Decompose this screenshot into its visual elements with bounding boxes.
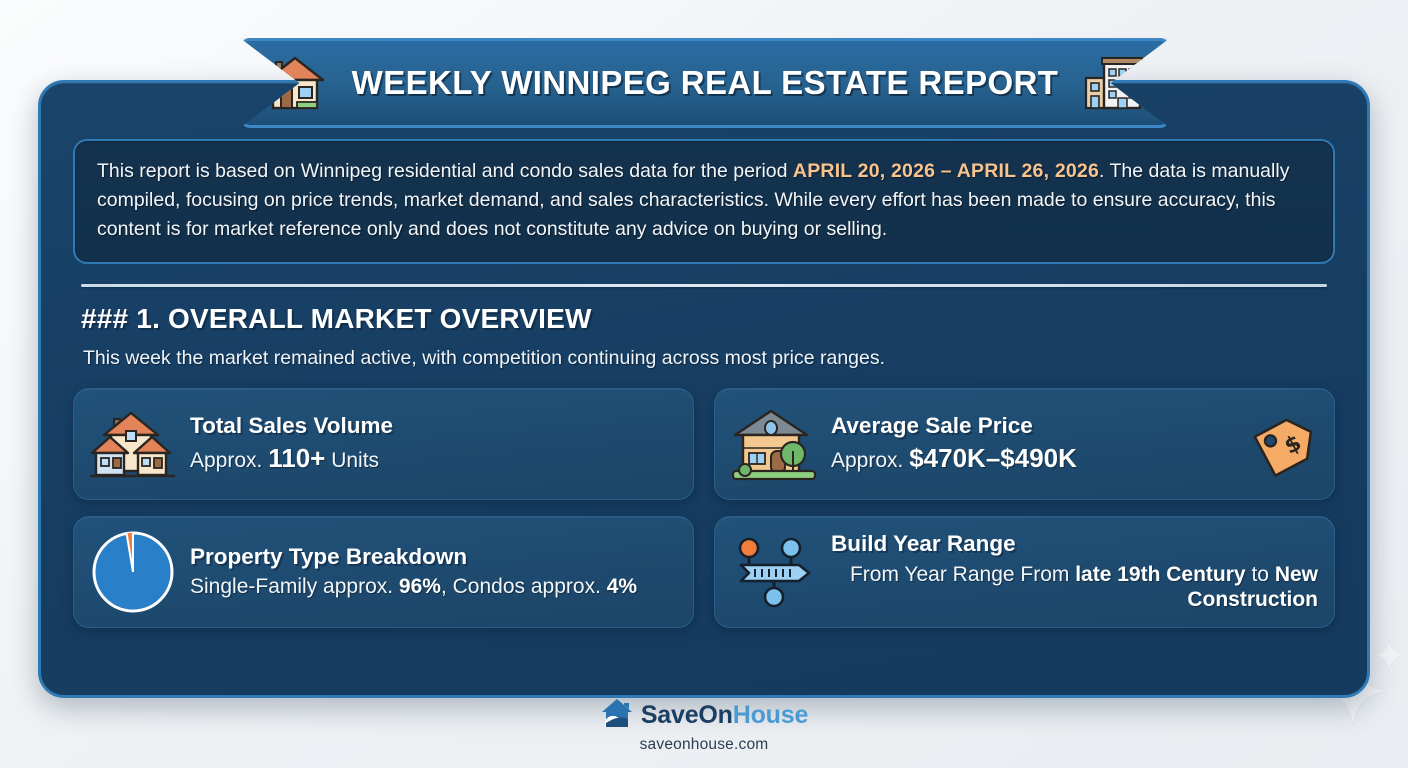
- office-building-icon: [1084, 52, 1146, 114]
- stat-card-grid: Total Sales Volume Approx. 110+ Units: [73, 388, 1335, 628]
- stat-value-prefix: Approx.: [831, 449, 909, 472]
- stat-card-property-type-breakdown: Property Type Breakdown Single-Family ap…: [73, 516, 694, 628]
- house-swoosh-logo-icon: [600, 697, 634, 734]
- stat-value-line2-a: approx.: [531, 575, 607, 598]
- stat-title: Total Sales Volume: [190, 413, 677, 440]
- stat-card-build-year-range: Build Year Range From Year Range From la…: [714, 516, 1335, 628]
- page-title: WEEKLY WINNIPEG REAL ESTATE REPORT: [352, 64, 1059, 102]
- stat-value: Approx. $470K–$490K: [831, 443, 1318, 475]
- disclaimer-box: This report is based on Winnipeg residen…: [73, 139, 1335, 264]
- stat-value: From Year Range From late 19th Century t…: [831, 562, 1318, 613]
- disclaimer-text: This report is based on Winnipeg residen…: [97, 157, 1311, 244]
- section-subtitle: This week the market remained active, wi…: [73, 347, 1335, 370]
- report-date-range: APRIL 20, 2026 – APRIL 26, 2026: [793, 160, 1099, 182]
- stat-card-total-sales-volume: Total Sales Volume Approx. 110+ Units: [73, 388, 694, 500]
- price-tag-icon: $: [1248, 404, 1328, 484]
- brand-part-house: House: [733, 701, 808, 729]
- stat-title: Average Sale Price: [831, 413, 1318, 440]
- section-divider: [81, 284, 1327, 287]
- brand-url[interactable]: saveonhouse.com: [640, 736, 769, 754]
- stat-value-line1-c: , Condos: [441, 575, 525, 598]
- stat-value-line2-a: to: [1251, 563, 1274, 586]
- brand-logo[interactable]: SaveOnHouse: [600, 697, 808, 734]
- timeline-icon: [731, 529, 817, 615]
- pie-chart-icon: [90, 529, 176, 615]
- houses-icon: [90, 401, 176, 487]
- stat-value-line1-a: Single-Family approx.: [190, 575, 399, 598]
- stat-title: Property Type Breakdown: [190, 544, 677, 571]
- stat-value-highlight: 110+: [268, 443, 325, 473]
- stat-card-average-sale-price: Average Sale Price Approx. $470K–$490K $: [714, 388, 1335, 500]
- stat-value-single-family-pct: 96%: [399, 575, 441, 598]
- stat-value-condos-pct: 4%: [607, 575, 637, 598]
- sparkle-decoration-small: [1372, 638, 1406, 672]
- stat-value-year-from: late 19th Century: [1075, 563, 1245, 586]
- footer: SaveOnHouse saveonhouse.com: [0, 697, 1408, 754]
- stat-title: Build Year Range: [831, 531, 1318, 558]
- stat-value: Approx. 110+ Units: [190, 443, 677, 475]
- section-heading: ### 1. OVERALL MARKET OVERVIEW: [73, 303, 1335, 335]
- stat-value-highlight: $470K–$490K: [909, 443, 1077, 473]
- report-header-ribbon: WEEKLY WINNIPEG REAL ESTATE REPORT: [240, 38, 1170, 128]
- house-with-garden-icon: [731, 401, 817, 487]
- house-icon: [264, 52, 326, 114]
- stat-value-suffix: Units: [325, 449, 379, 472]
- brand-name: SaveOnHouse: [641, 701, 808, 730]
- brand-part-on: On: [698, 701, 732, 729]
- brand-part-save: Save: [641, 701, 699, 729]
- report-panel: This report is based on Winnipeg residen…: [38, 80, 1370, 698]
- stat-value-prefix: Approx.: [190, 449, 268, 472]
- disclaimer-text-before: This report is based on Winnipeg residen…: [97, 160, 793, 182]
- stat-value: Single-Family approx. 96%, Condos approx…: [190, 574, 677, 600]
- stat-value-line1-a: From Year Range From: [850, 563, 1075, 586]
